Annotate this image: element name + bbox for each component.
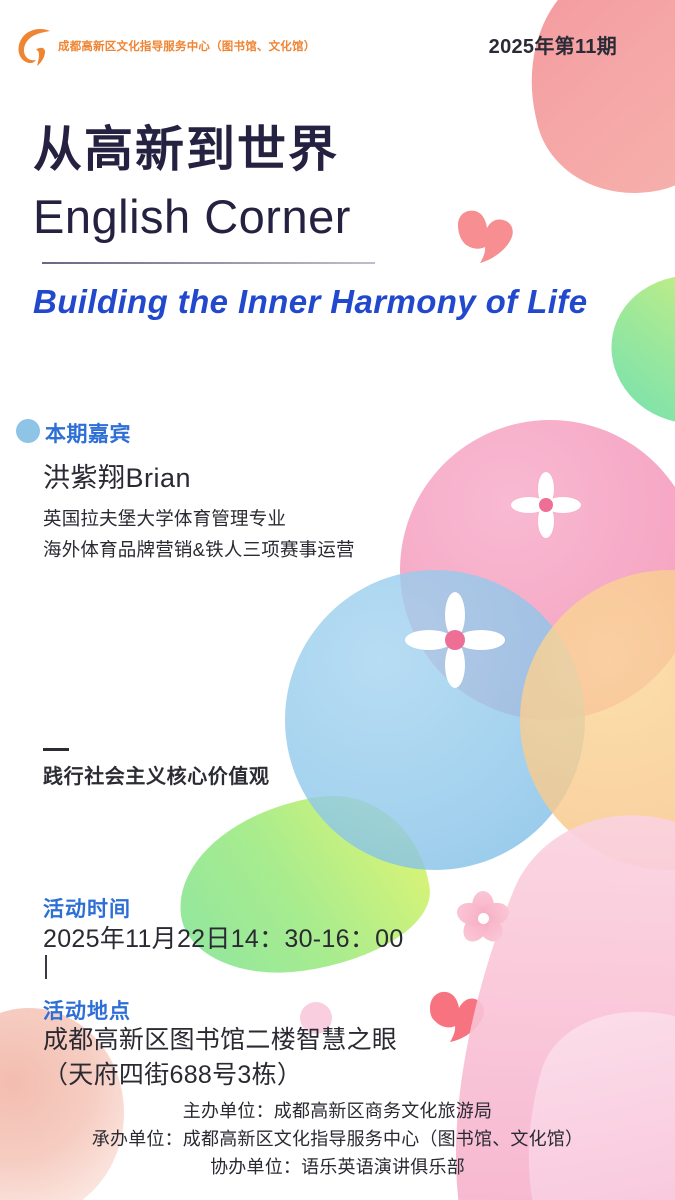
guest-bio: 英国拉夫堡大学体育管理专业 海外体育品牌营销&铁人三项赛事运营 xyxy=(43,504,355,565)
guest-bio-line-1: 英国拉夫堡大学体育管理专业 xyxy=(43,504,355,535)
event-place-line-2: （天府四街688号3栋） xyxy=(43,1058,397,1093)
title-divider xyxy=(42,262,375,264)
footer-organizer-line: 承办单位：成都高新区文化指导服务中心（图书馆、文化馆） xyxy=(0,1126,675,1154)
core-values-slogan: 践行社会主义核心价值观 xyxy=(43,760,270,789)
subtitle-english: Building the Inner Harmony of Life xyxy=(33,281,587,322)
poster-canvas: 成都高新区文化指导服务中心（图书馆、文化馆） 2025年第11期 从高新到世界 … xyxy=(0,0,675,1200)
guest-bio-line-2: 海外体育品牌营销&铁人三项赛事运营 xyxy=(43,535,355,566)
text-cursor-mark xyxy=(45,955,47,979)
guest-name: 洪紫翔Brian xyxy=(43,456,191,495)
values-dash-mark xyxy=(43,748,69,751)
title-chinese: 从高新到世界 xyxy=(33,126,339,175)
event-place-value: 成都高新区图书馆二楼智慧之眼 （天府四街688号3栋） xyxy=(43,1023,397,1092)
guest-bullet-icon xyxy=(16,419,40,443)
footer-host-line: 主办单位：成都高新区商务文化旅游局 xyxy=(0,1098,675,1126)
poster-header: 成都高新区文化指导服务中心（图书馆、文化馆） 2025年第11期 xyxy=(0,24,675,74)
event-place-label: 活动地点 xyxy=(43,995,131,1025)
event-time-value: 2025年11月22日14：30-16：00 xyxy=(43,922,404,957)
issue-number: 2025年第11期 xyxy=(489,30,617,59)
swirl-c-logo-icon xyxy=(14,26,60,72)
event-time-label: 活动时间 xyxy=(43,893,131,923)
poster-footer: 主办单位：成都高新区商务文化旅游局 承办单位：成都高新区文化指导服务中心（图书馆… xyxy=(0,1098,675,1182)
footer-coorganizer-line: 协办单位：语乐英语演讲俱乐部 xyxy=(0,1154,675,1182)
event-place-line-1: 成都高新区图书馆二楼智慧之眼 xyxy=(43,1023,397,1058)
organization-name: 成都高新区文化指导服务中心（图书馆、文化馆） xyxy=(58,38,315,54)
title-english: English Corner xyxy=(33,193,351,240)
guest-section-label: 本期嘉宾 xyxy=(45,418,131,448)
